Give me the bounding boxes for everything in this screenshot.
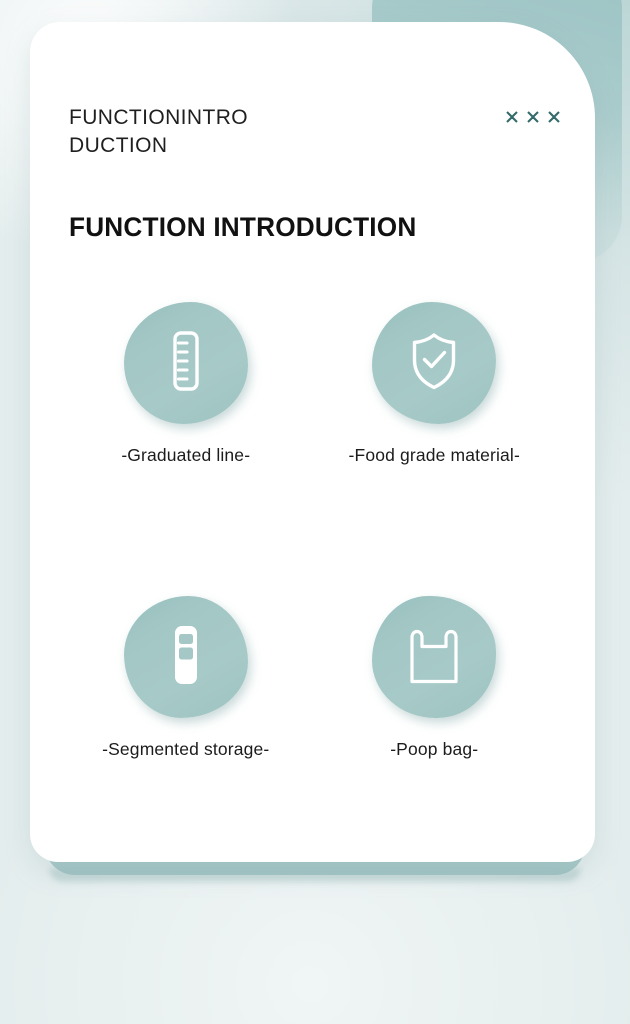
- feature-label: -Graduated line-: [121, 445, 250, 466]
- feature-icon-blob: [372, 302, 496, 424]
- eyebrow-text: FUNCTIONINTRO DUCTION: [69, 104, 248, 159]
- decoration-x-marks: [505, 104, 561, 129]
- feature-label: -Poop bag-: [390, 739, 478, 760]
- feature-item-segmented-storage[interactable]: -Segmented storage-: [69, 596, 313, 760]
- x-mark-icon: [505, 110, 519, 129]
- feature-item-graduated-line[interactable]: -Graduated line-: [69, 302, 313, 466]
- shield-check-icon: [406, 331, 462, 396]
- feature-grid: -Graduated line- -Food grade material-: [69, 302, 556, 760]
- shopping-bag-icon: [406, 626, 462, 689]
- x-mark-icon: [526, 110, 540, 129]
- feature-icon-blob: [124, 302, 248, 424]
- segmented-container-icon: [165, 624, 207, 691]
- feature-label: -Food grade material-: [349, 445, 520, 466]
- feature-item-food-grade-material[interactable]: -Food grade material-: [313, 302, 557, 466]
- page-title: FUNCTION INTRODUCTION: [69, 212, 416, 243]
- card-header: FUNCTIONINTRO DUCTION: [69, 104, 561, 159]
- x-mark-icon: [547, 110, 561, 129]
- feature-label: -Segmented storage-: [102, 739, 269, 760]
- feature-icon-blob: [124, 596, 248, 718]
- feature-item-poop-bag[interactable]: -Poop bag-: [313, 596, 557, 760]
- ruler-icon: [163, 330, 209, 397]
- feature-icon-blob: [372, 596, 496, 718]
- content-card: FUNCTIONINTRO DUCTION FUNCTION INTRODUCT…: [30, 22, 595, 862]
